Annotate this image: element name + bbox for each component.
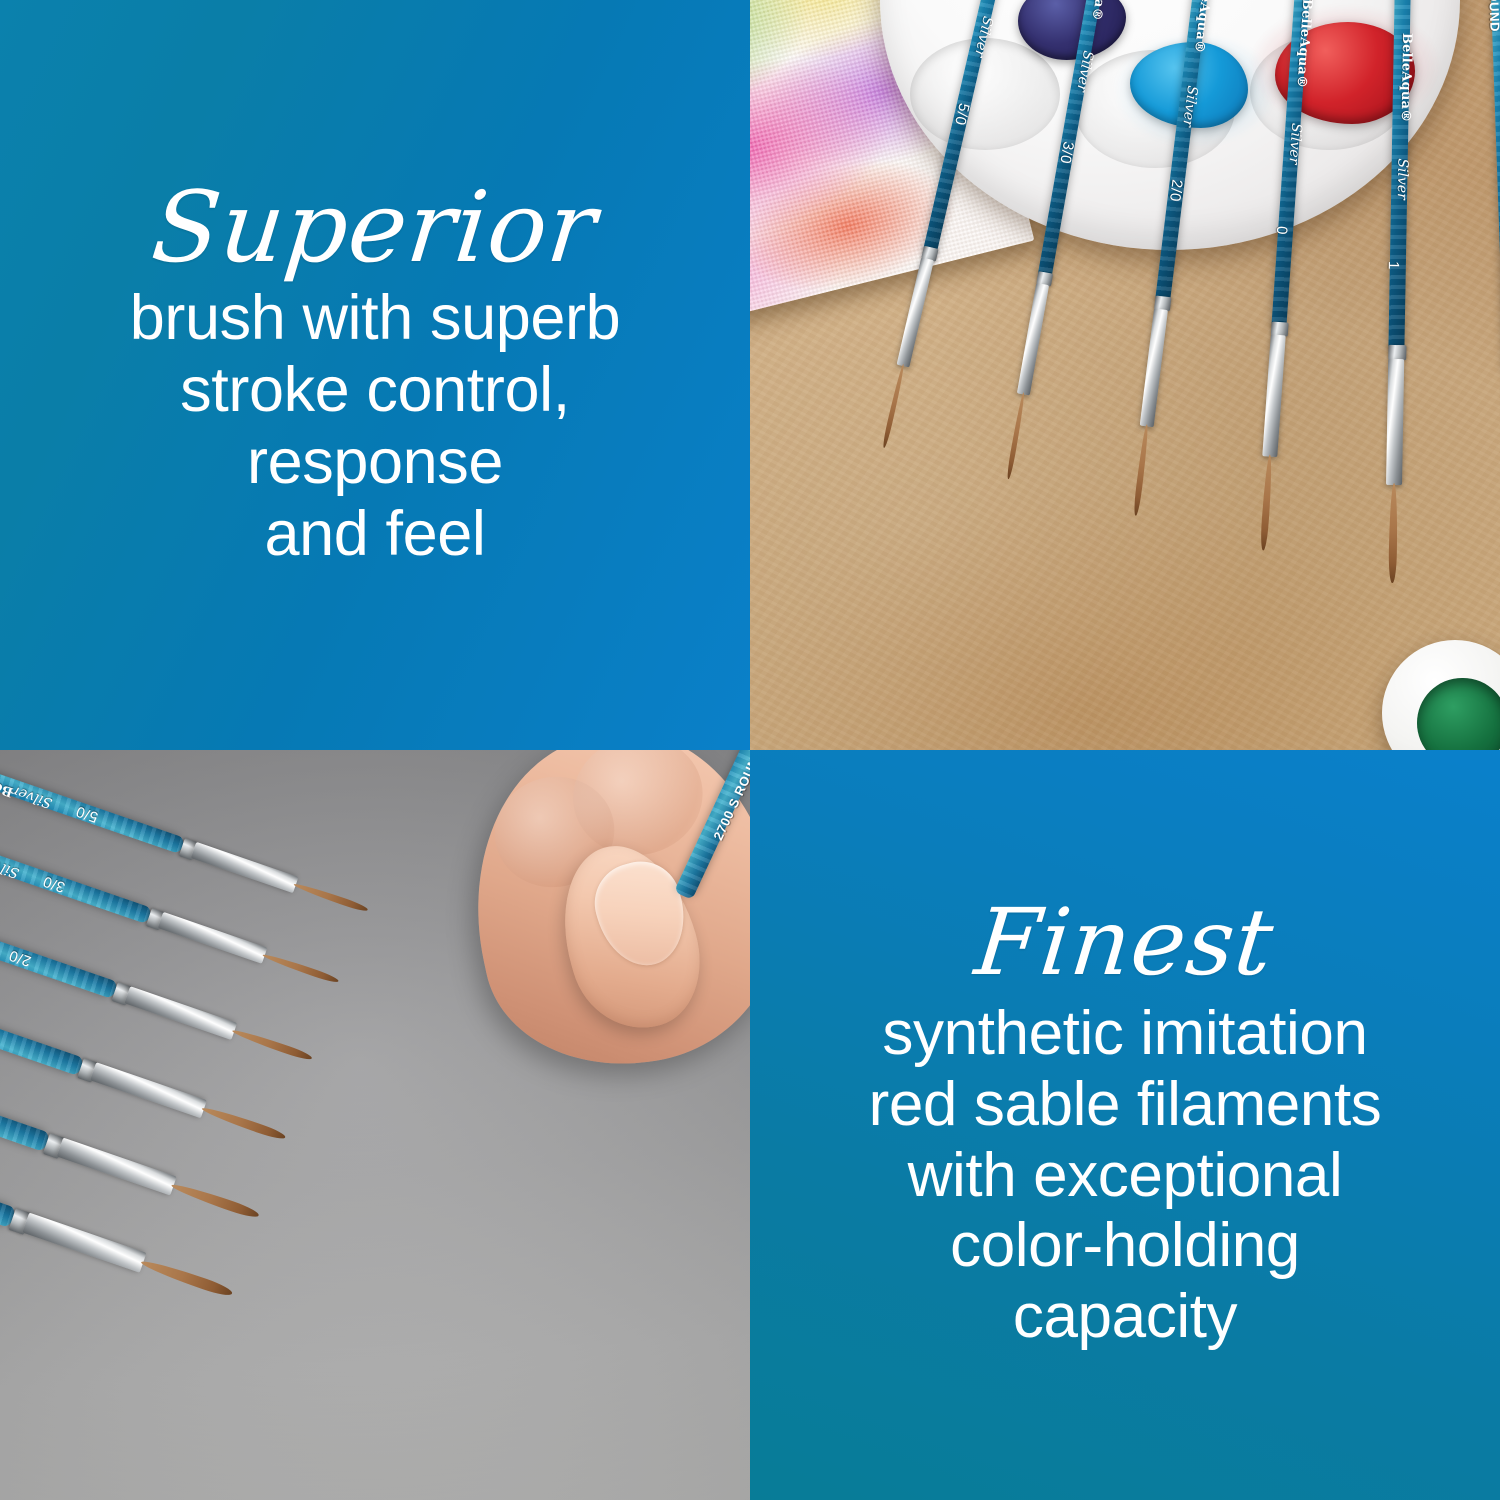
product-feature-collage: Superior brush with superb stroke contro…: [0, 0, 1500, 1500]
superior-line-4: and feel: [130, 499, 620, 571]
panel-superior-body: brush with superb stroke control, respon…: [130, 283, 620, 570]
brush-series-label: BelleAqua®: [1398, 33, 1415, 123]
panel-finest: Finest synthetic imitation red sable fil…: [750, 750, 1500, 1500]
brush-model-label: 2700 S ROUND: [1484, 0, 1500, 32]
superior-line-1: brush with superb: [130, 283, 620, 355]
brush-maker-label: Silver: [1285, 122, 1304, 164]
finest-line-5: capacity: [869, 1282, 1382, 1353]
brush-crimp: [1388, 345, 1406, 360]
finest-line-2: red sable filaments: [869, 1070, 1382, 1141]
superior-line-3: response: [130, 427, 620, 499]
superior-line-2: stroke control,: [130, 355, 620, 427]
panel-superior-script-word: Superior: [148, 179, 601, 277]
photo-brush-set-grey: 5/0 Silver BelleAqua® 2700 S ROUND 3/0 S…: [0, 750, 750, 1500]
brush-size-label: 0: [1273, 225, 1291, 235]
panel-finest-body: synthetic imitation red sable filaments …: [869, 999, 1382, 1352]
finest-line-4: color-holding: [869, 1211, 1382, 1282]
panel-finest-script-word: Finest: [972, 897, 1279, 989]
brush-ferrule: [1386, 359, 1404, 485]
brush-maker-label: Silver: [1394, 158, 1411, 200]
finest-line-1: synthetic imitation: [869, 999, 1382, 1070]
panel-superior: Superior brush with superb stroke contro…: [0, 0, 750, 750]
brush-size-label: 2/0: [1166, 178, 1186, 202]
finest-line-3: with exceptional: [869, 1141, 1382, 1212]
photo-brush-fan-kraft: 5/0 Silver BelleAqua® 2700 S ROUND 3/0 S…: [750, 0, 1500, 750]
brush-size-label: 1: [1385, 261, 1402, 270]
